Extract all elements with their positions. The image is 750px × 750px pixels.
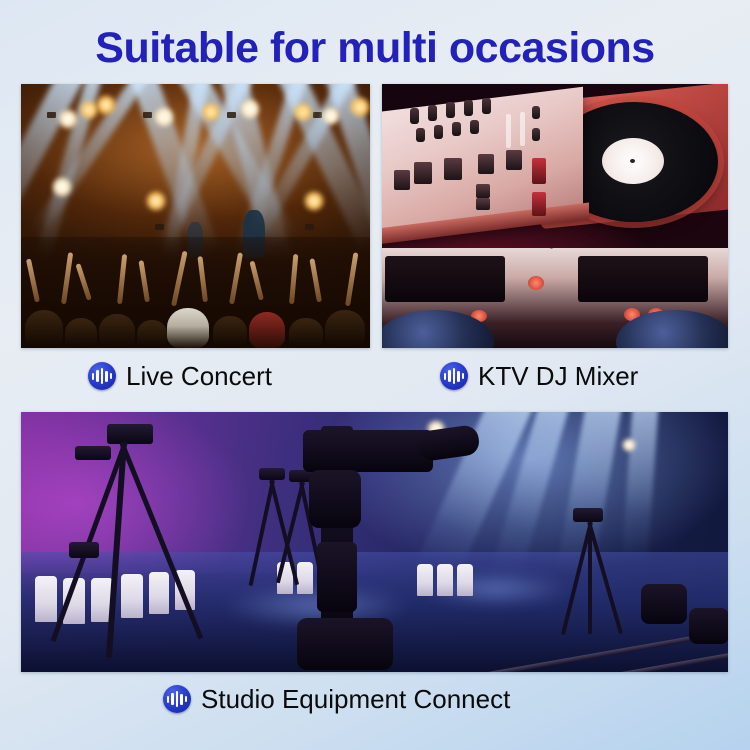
deck-display <box>385 256 505 302</box>
stage-lamp <box>95 94 117 116</box>
raised-hand <box>117 254 127 304</box>
audio-waveform-icon <box>88 362 116 390</box>
crane-arm <box>303 430 433 472</box>
raised-hand <box>289 254 298 304</box>
mixer-knob <box>452 122 461 136</box>
truss-fixture <box>305 224 314 230</box>
camera-tripod-left <box>61 424 181 664</box>
camera-head <box>107 424 153 444</box>
crowd-head <box>325 310 365 348</box>
crowd-head <box>65 318 97 348</box>
tripod-clamp <box>69 542 99 558</box>
mixer-knob <box>446 102 455 118</box>
truss-fixture <box>143 112 152 118</box>
caption-studio-equipment-connect: Studio Equipment Connect <box>163 684 510 714</box>
caption-label: Studio Equipment Connect <box>201 684 510 714</box>
raised-hand <box>249 261 264 301</box>
mixer-knob <box>464 100 473 116</box>
crowd-head <box>137 320 167 348</box>
dj-scene <box>382 84 728 348</box>
caption-label: Live Concert <box>126 361 272 391</box>
fader-cap <box>394 170 410 190</box>
banquet-chair <box>417 564 433 596</box>
camera-head <box>573 508 603 522</box>
camera-head <box>75 446 111 460</box>
mixer-knob <box>434 125 443 139</box>
banquet-chair <box>457 564 473 596</box>
tripod-leg <box>249 480 275 586</box>
truss-fixture <box>47 112 56 118</box>
fader-cap <box>444 158 462 180</box>
fader-cap <box>476 198 490 210</box>
stage-lamp <box>153 106 175 128</box>
truss-fixture <box>155 224 164 230</box>
tripod-leg <box>588 522 592 634</box>
banquet-chair <box>437 564 453 596</box>
crowd-head <box>213 316 247 348</box>
fader-cap <box>478 154 494 174</box>
crowd-head <box>249 312 285 348</box>
mixer-knob <box>470 120 479 134</box>
caption-ktv-dj-mixer: KTV DJ Mixer <box>440 361 638 391</box>
stage-lamp <box>239 98 261 120</box>
crane-base <box>297 618 393 670</box>
banquet-chair <box>35 576 57 622</box>
channel-fader-track <box>506 114 511 148</box>
fader-cap <box>532 192 546 216</box>
raised-hand <box>309 258 322 302</box>
raised-hand <box>61 252 73 304</box>
moving-head-light <box>689 608 728 644</box>
audio-waveform-icon <box>163 685 191 713</box>
stage-lamp <box>51 176 73 198</box>
stage-lamp <box>201 102 221 122</box>
stage-lamp <box>321 106 341 126</box>
camera-tripod-right <box>561 508 621 638</box>
stage-lamp <box>349 96 370 118</box>
raised-hand <box>345 252 358 306</box>
raised-hand <box>26 258 40 302</box>
fader-cap <box>506 150 522 170</box>
moving-head-light <box>641 584 687 624</box>
stage-lamp <box>303 190 325 212</box>
cue-button <box>528 276 544 290</box>
ktv-dj-mixer-photo <box>382 84 728 348</box>
crane-pedestal <box>317 542 357 612</box>
crowd-head <box>99 314 135 348</box>
promo-banner: Suitable for multi occasions <box>0 0 750 750</box>
studio-scene <box>21 412 728 672</box>
crane-gimbal <box>309 470 361 528</box>
stage-lamp <box>293 102 313 122</box>
caption-label: KTV DJ Mixer <box>478 361 638 391</box>
tripod-leg <box>106 442 127 658</box>
caption-live-concert: Live Concert <box>88 361 272 391</box>
truss-fixture <box>227 112 236 118</box>
raised-hand <box>171 251 188 307</box>
raised-hand <box>229 252 243 304</box>
crowd <box>21 237 370 348</box>
page-title: Suitable for multi occasions <box>0 23 750 73</box>
crowd-head <box>289 318 323 348</box>
deck-display <box>578 256 708 302</box>
fader-cap <box>414 162 432 184</box>
concert-scene <box>21 84 370 348</box>
fader-cap <box>532 158 546 184</box>
mixer-knob <box>410 108 419 124</box>
camera-head <box>259 468 285 480</box>
tripod-leg <box>587 521 623 634</box>
stage-lamp <box>145 190 167 212</box>
raised-hand <box>138 260 150 302</box>
mixer-knob <box>532 128 540 141</box>
stage-lamp <box>621 438 637 452</box>
raised-hand <box>197 256 208 302</box>
audio-waveform-icon <box>440 362 468 390</box>
studio-equipment-photo <box>21 412 728 672</box>
channel-fader-track <box>520 112 525 146</box>
stage-lamp <box>57 108 79 130</box>
spindle-hole <box>630 159 635 163</box>
crowd-head <box>25 310 63 348</box>
mixer-knob <box>416 128 425 142</box>
tripod-leg <box>269 480 299 586</box>
live-concert-photo <box>21 84 370 348</box>
raised-hand <box>75 263 91 301</box>
mixer-knob <box>482 98 491 114</box>
fader-cap <box>476 184 490 198</box>
mixer-knob <box>532 106 540 119</box>
crowd-head <box>167 308 209 348</box>
mixer-knob <box>428 105 437 121</box>
